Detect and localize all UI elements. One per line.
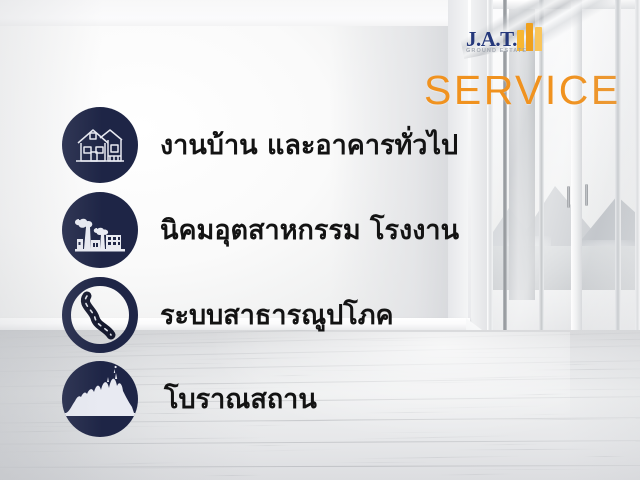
list-item[interactable]: โบราณสถาน [62, 361, 317, 437]
road-icon [62, 277, 138, 353]
house-icon [62, 107, 138, 183]
company-logo[interactable]: J.A.T. GROUND ESTATE [466, 26, 570, 62]
list-item-label: งานบ้าน และอาคารทั่วไป [160, 132, 458, 159]
list-item-label: นิคมอุตสาหกรรม โรงงาน [160, 217, 459, 244]
list-item-label: ระบบสาธารณูปโภค [160, 302, 394, 329]
logo-building-bars-icon [517, 23, 543, 51]
list-item[interactable]: งานบ้าน และอาคารทั่วไป [62, 107, 458, 183]
factory-icon [62, 192, 138, 268]
logo-tagline: GROUND ESTATE [466, 48, 570, 54]
page-title: SERVICE [424, 70, 621, 111]
list-item[interactable]: นิคมอุตสาหกรรม โรงงาน [62, 192, 459, 268]
list-item-label: โบราณสถาน [164, 386, 317, 413]
temple-icon [62, 361, 138, 437]
list-item[interactable]: ระบบสาธารณูปโภค [62, 277, 394, 353]
